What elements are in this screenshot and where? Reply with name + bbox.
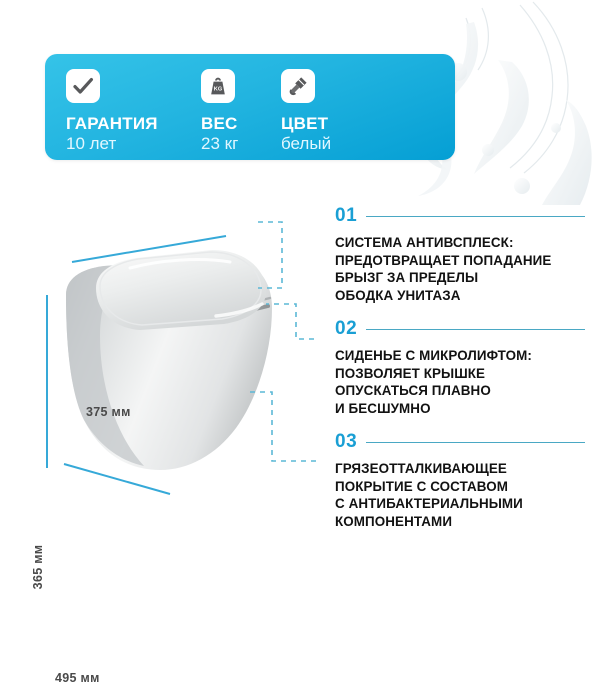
feature-text-line: ПРЕДОТВРАЩАЕТ ПОПАДАНИЕ <box>335 252 585 270</box>
feature-text-line: ПОКРЫТИЕ С СОСТАВОМ <box>335 478 585 496</box>
feature-number: 01 <box>335 205 357 227</box>
dimension-height-label: 365 мм <box>31 527 45 607</box>
feature-header: 03 <box>335 431 585 453</box>
feature-header: 01 <box>335 205 585 227</box>
feature-list: 01 СИСТЕМА АНТИВСПЛЕСК: ПРЕДОТВРАЩАЕТ ПО… <box>335 205 585 544</box>
feature-number: 02 <box>335 318 357 340</box>
feature-text: СИСТЕМА АНТИВСПЛЕСК: ПРЕДОТВРАЩАЕТ ПОПАД… <box>335 234 585 304</box>
feature-header: 02 <box>335 318 585 340</box>
feature-text-line: СИДЕНЬЕ С МИКРОЛИФТОМ: <box>335 347 585 365</box>
infographic-canvas: ГАРАНТИЯ 10 лет KG ВЕС 23 кг <box>0 0 600 600</box>
feature-item-01: 01 СИСТЕМА АНТИВСПЛЕСК: ПРЕДОТВРАЩАЕТ ПО… <box>335 205 585 304</box>
feature-text-line: ПОЗВОЛЯЕТ КРЫШКЕ <box>335 365 585 383</box>
dimension-labels: 375 мм 365 мм 495 мм <box>0 190 300 520</box>
feature-text-line: ОБОДКА УНИТАЗА <box>335 287 585 305</box>
dimension-width-label: 495 мм <box>55 671 100 685</box>
feature-number: 03 <box>335 431 357 453</box>
feature-rule <box>366 216 585 217</box>
feature-text-line: С АНТИБАКТЕРИАЛЬНЫМИ <box>335 495 585 513</box>
feature-item-02: 02 СИДЕНЬЕ С МИКРОЛИФТОМ: ПОЗВОЛЯЕТ КРЫШ… <box>335 318 585 417</box>
feature-item-03: 03 ГРЯЗЕОТТАЛКИВАЮЩЕЕ ПОКРЫТИЕ С СОСТАВО… <box>335 431 585 530</box>
feature-text: СИДЕНЬЕ С МИКРОЛИФТОМ: ПОЗВОЛЯЕТ КРЫШКЕ … <box>335 347 585 417</box>
feature-text-line: КОМПОНЕНТАМИ <box>335 513 585 531</box>
feature-text-line: СИСТЕМА АНТИВСПЛЕСК: <box>335 234 585 252</box>
feature-text-line: И БЕСШУМНО <box>335 400 585 418</box>
feature-text: ГРЯЗЕОТТАЛКИВАЮЩЕЕ ПОКРЫТИЕ С СОСТАВОМ С… <box>335 460 585 530</box>
feature-text-line: БРЫЗГ ЗА ПРЕДЕЛЫ <box>335 269 585 287</box>
feature-text-line: ОПУСКАТЬСЯ ПЛАВНО <box>335 382 585 400</box>
feature-rule <box>366 442 585 443</box>
feature-rule <box>366 329 585 330</box>
feature-text-line: ГРЯЗЕОТТАЛКИВАЮЩЕЕ <box>335 460 585 478</box>
dimension-depth-label: 375 мм <box>86 405 131 419</box>
